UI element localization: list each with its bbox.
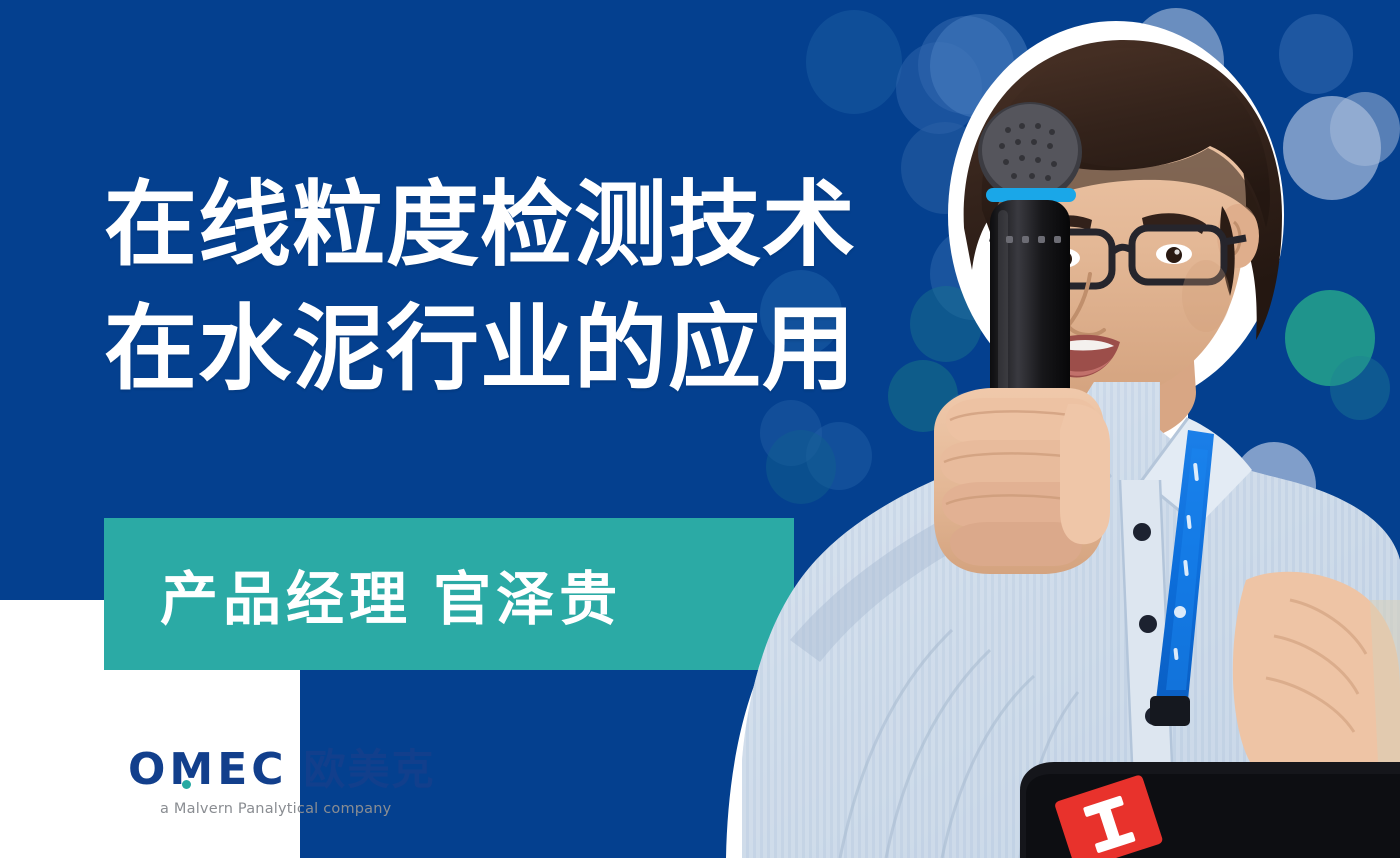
poster-canvas: 在线粒度检测技术 在水泥行业的应用 产品经理 官泽贵 OMEC 欧美克 a Ma… — [0, 0, 1400, 858]
logo-tagline: a Malvern Panalytical company — [160, 801, 436, 817]
logo-wordmark: OMEC — [128, 748, 288, 792]
logo-wordmark-cn: 欧美克 — [304, 749, 436, 791]
logo-accent-dot-icon — [182, 780, 191, 789]
presenter-name-text: 产品经理 官泽贵 — [160, 552, 622, 636]
presenter-photo — [690, 0, 1400, 858]
omec-logo: OMEC 欧美克 a Malvern Panalytical company — [128, 748, 436, 817]
logo-wordmark-row: OMEC 欧美克 — [128, 748, 436, 792]
